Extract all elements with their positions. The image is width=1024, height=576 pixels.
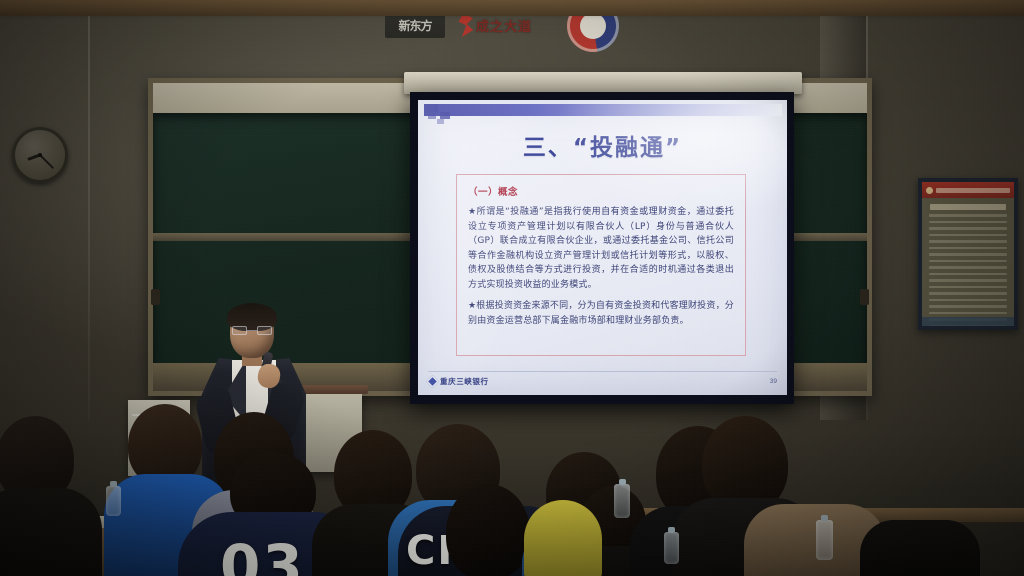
audience-torso bbox=[524, 500, 602, 576]
poster-header-text bbox=[936, 188, 1010, 193]
slide-accent-blocks bbox=[424, 104, 484, 126]
desk-front-row bbox=[0, 0, 1024, 16]
projected-slide: 三、“投融通” （一）概念 ★所谓是“投融通”是指我行使用自有资金或理财资金，通… bbox=[418, 100, 787, 395]
poster-title-bar bbox=[930, 204, 1006, 210]
bank-diamond-icon bbox=[426, 375, 439, 388]
poster-inner bbox=[922, 182, 1014, 326]
poster-body-lines bbox=[929, 214, 1007, 326]
bank-logo: 重庆三峡银行 bbox=[428, 377, 489, 386]
wall-notice-poster bbox=[918, 178, 1018, 330]
banner-logo-middle-text: 成之大道 bbox=[476, 16, 532, 35]
clock-center-pin bbox=[38, 153, 42, 157]
projector-screen-frame: 三、“投融通” （一）概念 ★所谓是“投融通”是指我行使用自有资金或理财资金，通… bbox=[410, 92, 794, 404]
emblem-core bbox=[586, 18, 601, 34]
jersey-number: 03 bbox=[220, 532, 305, 576]
audience-member-yellow bbox=[524, 470, 602, 576]
slide-page-number: 39 bbox=[770, 378, 777, 385]
water-bottle-2 bbox=[816, 520, 833, 560]
wall-clock bbox=[12, 127, 68, 183]
slide-subheading: （一）概念 bbox=[468, 184, 734, 198]
slide-paragraph-2: ★根据投资资金来源不同，分为自有资金投资和代客理财投资，分别由资金运营总部下属金… bbox=[468, 299, 734, 328]
blackboard-knob-right bbox=[860, 289, 869, 305]
poster-header-band bbox=[922, 182, 1014, 198]
clock-minute-hand bbox=[39, 154, 54, 169]
water-bottle-1 bbox=[614, 484, 630, 518]
slide-title: 三、“投融通” bbox=[418, 128, 787, 162]
audience-torso bbox=[860, 520, 980, 576]
poster-emblem-icon bbox=[926, 187, 933, 194]
banner-logo-left-text: 新东方 bbox=[398, 17, 431, 34]
classroom-photo: 新东方 成之大道 三、“投融通” （ bbox=[0, 0, 1024, 576]
poster-footer-band bbox=[922, 317, 1014, 326]
bank-logo-name: 重庆三峡银行 bbox=[440, 378, 489, 386]
speaker-glasses-icon bbox=[232, 326, 272, 335]
wall-seam-left bbox=[88, 0, 90, 420]
projector-screen-housing bbox=[404, 72, 802, 94]
slide-paragraph-1: ★所谓是“投融通”是指我行使用自有资金或理财资金，通过委托设立专项资产管理计划以… bbox=[468, 205, 734, 292]
slide-content-box: （一）概念 ★所谓是“投融通”是指我行使用自有资金或理财资金，通过委托设立专项资… bbox=[456, 174, 746, 356]
audience-head bbox=[446, 484, 530, 576]
water-bottle-3 bbox=[664, 532, 679, 564]
blackboard-knob-left bbox=[151, 289, 160, 305]
audience-member-1 bbox=[0, 416, 100, 576]
water-bottle-4 bbox=[106, 486, 121, 516]
audience-torso bbox=[0, 488, 102, 576]
banner-flame-icon bbox=[457, 13, 473, 37]
audience-member-11 bbox=[860, 520, 980, 576]
slide-footer: 重庆三峡银行 39 bbox=[428, 371, 777, 389]
